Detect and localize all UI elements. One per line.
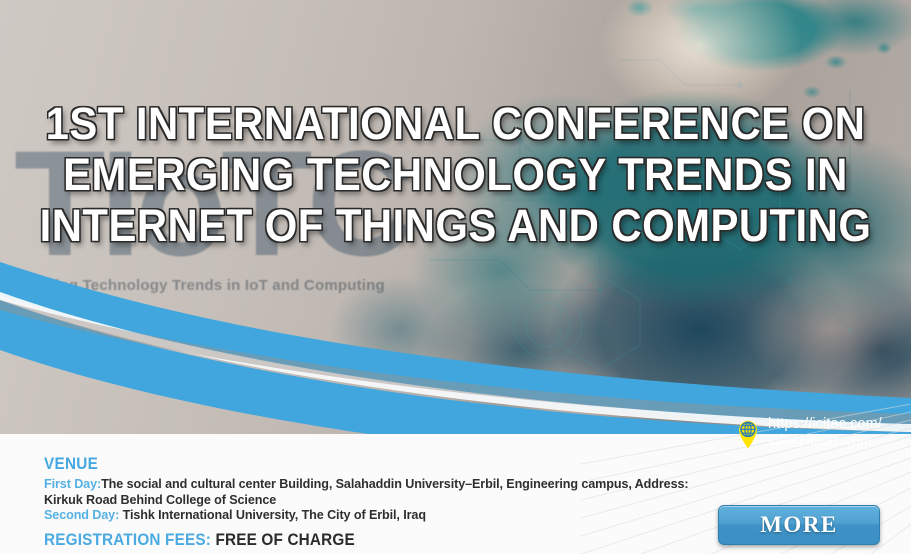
first-day-text: The social and cultural center Building,… bbox=[101, 477, 688, 491]
title-line-3: INTERNET OF THINGS AND COMPUTING bbox=[32, 200, 879, 251]
watermark-tagline: ...ing Technology Trends in IoT and Comp… bbox=[42, 277, 385, 294]
venue-details: VENUE First Day:The social and cultural … bbox=[44, 454, 824, 550]
title-line-2: EMERGING TECHNOLOGY TRENDS IN bbox=[32, 149, 879, 200]
registration-fees: REGISTRATION FEES: FREE OF CHARGE bbox=[44, 530, 746, 550]
more-button-label: MORE bbox=[760, 512, 838, 538]
more-button[interactable]: MORE bbox=[718, 505, 880, 545]
registration-fees-value: FREE OF CHARGE bbox=[215, 530, 354, 549]
venue-row: Kirkuk Road Behind College of Science bbox=[44, 493, 824, 509]
second-day-label: Second Day: bbox=[44, 508, 119, 522]
title-line-1: 1ST INTERNATIONAL CONFERENCE ON bbox=[32, 98, 879, 149]
conference-title: 1ST INTERNATIONAL CONFERENCE ON EMERGING… bbox=[0, 98, 911, 251]
contact-block: https://icitac.com/ info@icitac.com bbox=[735, 416, 882, 450]
globe-pin-icon bbox=[735, 417, 761, 449]
first-day-label: First Day: bbox=[44, 477, 101, 491]
venue-row: First Day:The social and cultural center… bbox=[44, 477, 824, 493]
registration-fees-label: REGISTRATION FEES: bbox=[44, 530, 211, 549]
first-day-text-cont: Kirkuk Road Behind College of Science bbox=[44, 493, 276, 507]
second-day-text: Tishk International University, The City… bbox=[119, 508, 426, 522]
venue-heading: VENUE bbox=[44, 454, 746, 474]
conference-banner: TIoTC ...ing Technology Trends in IoT an… bbox=[0, 0, 911, 554]
venue-row: Second Day: Tishk International Universi… bbox=[44, 508, 824, 524]
contact-website[interactable]: https://icitac.com/ bbox=[768, 416, 882, 433]
contact-email[interactable]: info@icitac.com bbox=[768, 433, 882, 450]
